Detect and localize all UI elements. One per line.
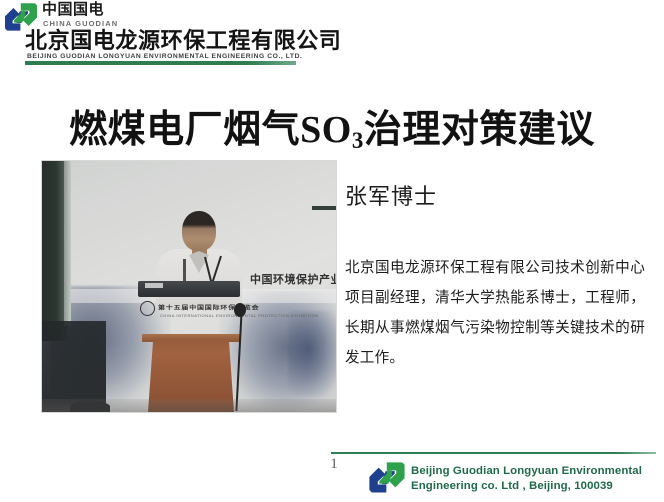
title-part-1: 燃煤电厂烟气	[69, 109, 300, 151]
title-part-2: 治理对策建议	[364, 109, 595, 151]
parent-brand-name-cn: 中国国电	[42, 2, 104, 18]
title-formula-subscript: 3	[352, 128, 364, 153]
header-divider	[25, 61, 296, 65]
slide-title: 燃煤电厂烟气SO3治理对策建议	[0, 105, 664, 160]
company-name-en: BEIJING GUODIAN LONGYUAN ENVIRONMENTAL E…	[27, 53, 302, 61]
company-name-cn: 北京国电龙源环保工程有限公司	[25, 29, 341, 53]
footer-company-line-1: Beijing Guodian Longyuan Environmental	[411, 464, 642, 479]
speaker-bio: 北京国电龙源环保工程有限公司技术创新中心项目副经理，清华大学热能系博士，工程师，…	[345, 253, 645, 373]
guodian-diamond-logo-icon	[368, 461, 406, 494]
footer-company-line-2: Engineering co. Ltd , Beijing, 100039	[411, 479, 642, 494]
slide-header: 中国国电 CHINA GUODIAN 北京国电龙源环保工程有限公司 BEIJIN…	[0, 0, 664, 66]
page-number: 1	[322, 456, 346, 473]
title-formula-so: SO	[300, 109, 352, 151]
footer-divider	[331, 452, 656, 454]
footer-company-address: Beijing Guodian Longyuan Environmental E…	[411, 464, 642, 494]
photo-color-tint-overlay	[42, 161, 336, 412]
speaker-photo: 中国环境保护产业协会 第十五届中国国际环保展览会 CHINA INTERNATI…	[42, 161, 336, 412]
parent-brand-name-en: CHINA GUODIAN	[43, 19, 118, 28]
speaker-name: 张军博士	[345, 182, 437, 212]
